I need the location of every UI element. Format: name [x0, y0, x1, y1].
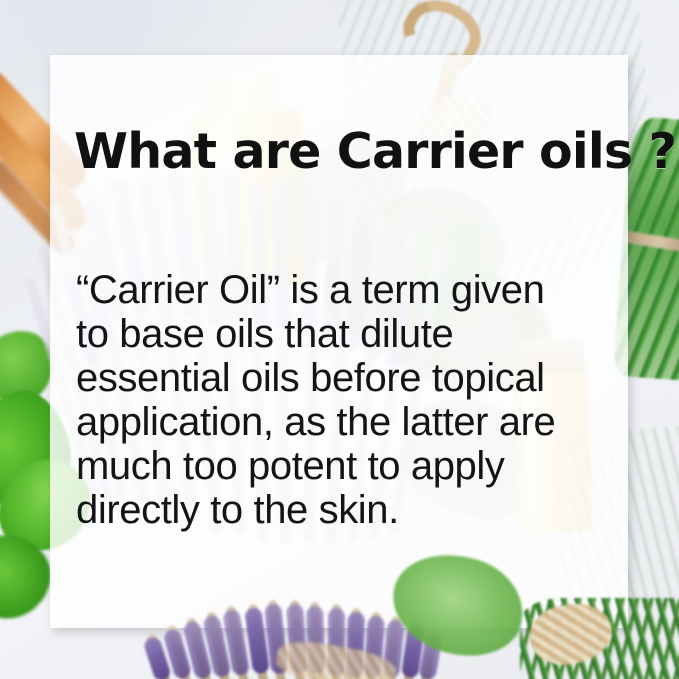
- body-line: directly to the skin.: [76, 488, 621, 532]
- thyme-bundle-icon: [520, 598, 679, 679]
- body-line: application, as the latter are: [76, 400, 621, 444]
- twine-knot-icon: [525, 596, 618, 672]
- body-paragraph: “Carrier Oil” is a term given to base oi…: [76, 268, 621, 532]
- body-line: “Carrier Oil” is a term given: [76, 268, 621, 312]
- page-title: What are Carrier oils ?: [74, 126, 614, 178]
- body-line: to base oils that dilute: [76, 312, 621, 356]
- lavender-flower-icon: [306, 606, 325, 675]
- infographic-image: What are Carrier oils ? “Carrier Oil” is…: [0, 0, 679, 679]
- body-line: much too potent to apply: [76, 444, 621, 488]
- lavender-flower-icon: [286, 603, 308, 674]
- lavender-flower-icon: [346, 612, 365, 679]
- body-line: essential oils before topical: [76, 356, 621, 400]
- lavender-flower-icon: [328, 608, 345, 676]
